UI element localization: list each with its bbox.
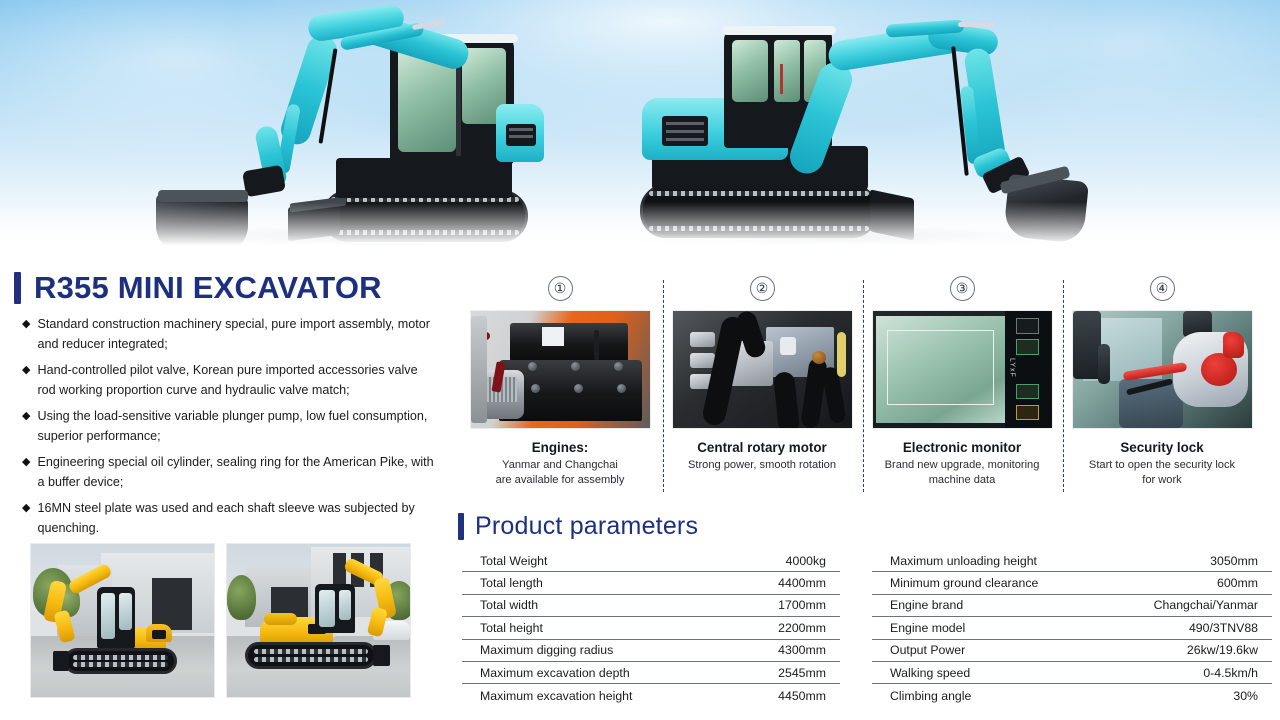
brochure-page: R355 MINI EXCAVATOR ◆ Standard construct…: [0, 0, 1280, 720]
card-title-1: Engines:: [460, 440, 660, 455]
monitor-photo: LYxF: [872, 310, 1053, 429]
security-lock-photo: [1072, 310, 1253, 429]
param-key: Output Power: [890, 643, 965, 657]
hero-ground-fade: [0, 202, 1280, 264]
feature-card-engines[interactable]: ① Engines: Yanmar and Changcha: [460, 276, 660, 488]
table-row: Maximum digging radius 4300mm: [462, 640, 840, 662]
table-row: Minimum ground clearance 600mm: [872, 572, 1272, 594]
diamond-bullet-icon: ◆: [22, 361, 30, 379]
title-accent-bar: [14, 272, 21, 304]
table-row: Total width 1700mm: [462, 595, 840, 617]
feature-card-monitor[interactable]: ③ LYxF Electronic monitor Brand new upgr…: [862, 276, 1062, 488]
gallery-photo-1: [30, 543, 215, 698]
card-subtitle-2: Strong power, smooth rotation: [662, 458, 862, 473]
param-value: 2545mm: [778, 666, 826, 680]
table-row: Maximum unloading height 3050mm: [872, 550, 1272, 572]
rotary-motor-photo: [672, 310, 853, 429]
card-number-4: ④: [1150, 276, 1175, 301]
feature-text: 16MN steel plate was used and each shaft…: [37, 499, 434, 538]
list-item: ◆ Hand-controlled pilot valve, Korean pu…: [22, 361, 434, 400]
engine-photo: [470, 310, 651, 429]
card-title-2: Central rotary motor: [662, 440, 862, 455]
table-row: Engine model 490/3TNV88: [872, 617, 1272, 639]
card-subtitle-1: Yanmar and Changchai are available for a…: [460, 458, 660, 488]
feature-list: ◆ Standard construction machinery specia…: [22, 315, 434, 545]
diamond-bullet-icon: ◆: [22, 453, 30, 471]
card-number-2: ②: [750, 276, 775, 301]
table-row: Output Power 26kw/19.6kw: [872, 640, 1272, 662]
table-row: Total Weight 4000kg: [462, 550, 840, 572]
card-subtitle-3: Brand new upgrade, monitoring machine da…: [862, 458, 1062, 488]
param-key: Total height: [480, 621, 543, 635]
param-key: Maximum excavation depth: [480, 666, 630, 680]
table-row: Maximum excavation height 4450mm: [462, 684, 840, 706]
parameters-table-right: Maximum unloading height 3050mm Minimum …: [872, 550, 1272, 707]
param-value: 2200mm: [778, 621, 826, 635]
param-key: Engine model: [890, 621, 965, 635]
gallery: [30, 543, 411, 698]
card-title-3: Electronic monitor: [862, 440, 1062, 455]
card-subtitle-4: Start to open the security lock for work: [1062, 458, 1262, 488]
param-key: Minimum ground clearance: [890, 576, 1038, 590]
table-row: Walking speed 0-4.5km/h: [872, 662, 1272, 684]
product-parameters-heading: Product parameters: [458, 512, 698, 541]
param-value: 490/3TNV88: [1189, 621, 1258, 635]
list-item: ◆ Engineering special oil cylinder, seal…: [22, 453, 434, 492]
param-key: Maximum excavation height: [480, 689, 632, 703]
diamond-bullet-icon: ◆: [22, 315, 30, 333]
param-value: 4000kg: [786, 554, 826, 568]
param-value: 4400mm: [778, 576, 826, 590]
list-item: ◆ 16MN steel plate was used and each sha…: [22, 499, 434, 538]
feature-text: Engineering special oil cylinder, sealin…: [37, 453, 434, 492]
diamond-bullet-icon: ◆: [22, 499, 30, 517]
param-value: 30%: [1233, 689, 1258, 703]
card-title-4: Security lock: [1062, 440, 1262, 455]
parameters-accent-bar: [458, 513, 464, 540]
feature-text: Hand-controlled pilot valve, Korean pure…: [37, 361, 434, 400]
parameters-table-left: Total Weight 4000kg Total length 4400mm …: [462, 550, 840, 707]
page-title: R355 MINI EXCAVATOR: [34, 270, 382, 306]
param-key: Total Weight: [480, 554, 547, 568]
feature-text: Using the load-sensitive variable plunge…: [37, 407, 434, 446]
product-title-row: R355 MINI EXCAVATOR: [14, 270, 382, 306]
table-row: Total height 2200mm: [462, 617, 840, 639]
param-key: Engine brand: [890, 598, 963, 612]
param-value: 26kw/19.6kw: [1187, 643, 1258, 657]
feature-cards: ① Engines: Yanmar and Changcha: [455, 276, 1280, 496]
diamond-bullet-icon: ◆: [22, 407, 30, 425]
param-key: Maximum unloading height: [890, 554, 1037, 568]
param-key: Maximum digging radius: [480, 643, 613, 657]
table-row: Total length 4400mm: [462, 572, 840, 594]
param-value: 1700mm: [778, 598, 826, 612]
parameters-title: Product parameters: [475, 512, 698, 541]
param-value: 600mm: [1217, 576, 1258, 590]
hero-banner: [0, 0, 1280, 264]
param-value: 4450mm: [778, 689, 826, 703]
table-row: Engine brand Changchai/Yanmar: [872, 595, 1272, 617]
param-value: Changchai/Yanmar: [1154, 598, 1258, 612]
param-value: 3050mm: [1210, 554, 1258, 568]
list-item: ◆ Using the load-sensitive variable plun…: [22, 407, 434, 446]
feature-text: Standard construction machinery special,…: [37, 315, 434, 354]
param-key: Walking speed: [890, 666, 970, 680]
card-number-3: ③: [950, 276, 975, 301]
param-key: Climbing angle: [890, 689, 971, 703]
param-value: 4300mm: [778, 643, 826, 657]
gallery-photo-2: [226, 543, 411, 698]
param-key: Total width: [480, 598, 538, 612]
feature-card-rotary-motor[interactable]: ② Central rotary motor Strong power, smo…: [662, 276, 862, 473]
param-value: 0-4.5km/h: [1203, 666, 1258, 680]
param-key: Total length: [480, 576, 543, 590]
feature-card-security-lock[interactable]: ④ Security lock Start to open the securi…: [1062, 276, 1262, 488]
table-row: Climbing angle 30%: [872, 684, 1272, 706]
card-number-1: ①: [548, 276, 573, 301]
table-row: Maximum excavation depth 2545mm: [462, 662, 840, 684]
list-item: ◆ Standard construction machinery specia…: [22, 315, 434, 354]
